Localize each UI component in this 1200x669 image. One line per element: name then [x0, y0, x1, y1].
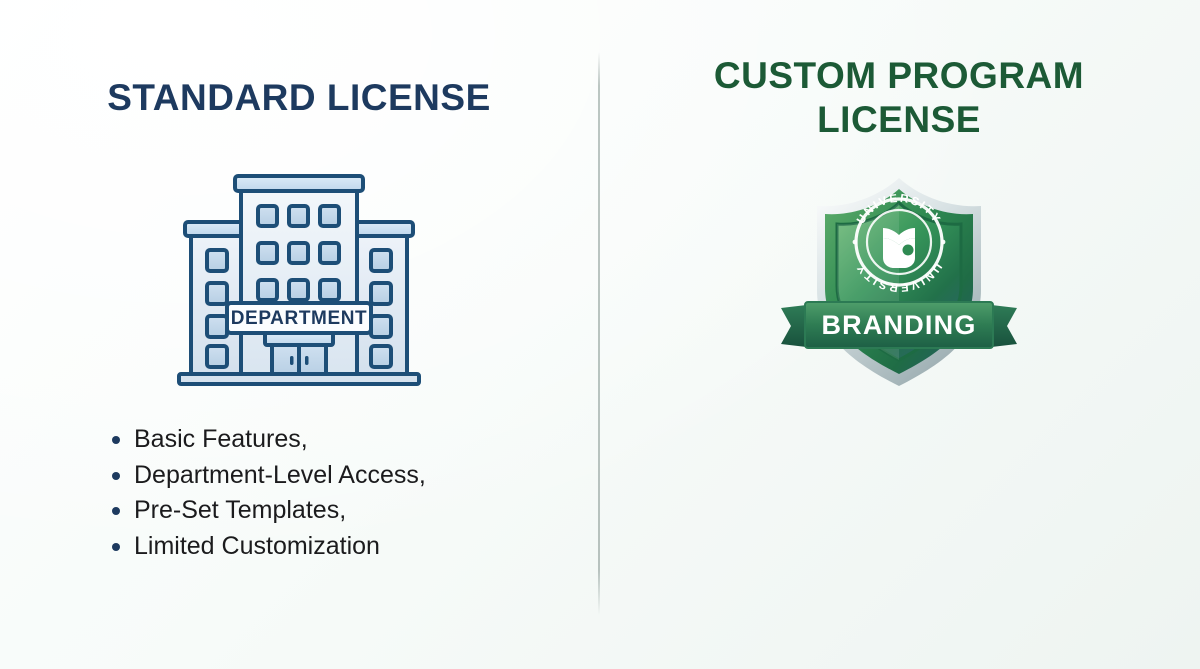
custom-program-license-title: CUSTOM PROGRAM LICENSE	[598, 54, 1200, 142]
standard-license-column: STANDARD LICENSE	[0, 0, 598, 669]
department-building-illustration: DEPARTMENT	[0, 168, 598, 393]
list-item: Limited Customization	[108, 529, 426, 565]
branding-ribbon-label: BRANDING	[821, 310, 976, 340]
title-line-1: CUSTOM PROGRAM	[598, 54, 1200, 98]
university-branding-shield-icon: UNIVERSITY UNIVERSITY	[775, 162, 1023, 394]
department-sign: DEPARTMENT	[227, 303, 371, 333]
custom-program-license-column: CUSTOM PROGRAM LICENSE	[598, 0, 1200, 669]
standard-license-title: STANDARD LICENSE	[0, 76, 598, 120]
standard-license-feature-list: Basic Features, Department-Level Access,…	[108, 422, 426, 564]
department-building-icon: DEPARTMENT	[169, 170, 429, 392]
department-sign-label: DEPARTMENT	[231, 308, 368, 329]
branding-shield-illustration: UNIVERSITY UNIVERSITY	[598, 160, 1200, 395]
license-comparison-slide: STANDARD LICENSE	[0, 0, 1200, 669]
title-line-2: LICENSE	[598, 98, 1200, 142]
list-item: Department-Level Access,	[108, 458, 426, 494]
list-item: Pre-Set Templates,	[108, 493, 426, 529]
list-item: Basic Features,	[108, 422, 426, 458]
